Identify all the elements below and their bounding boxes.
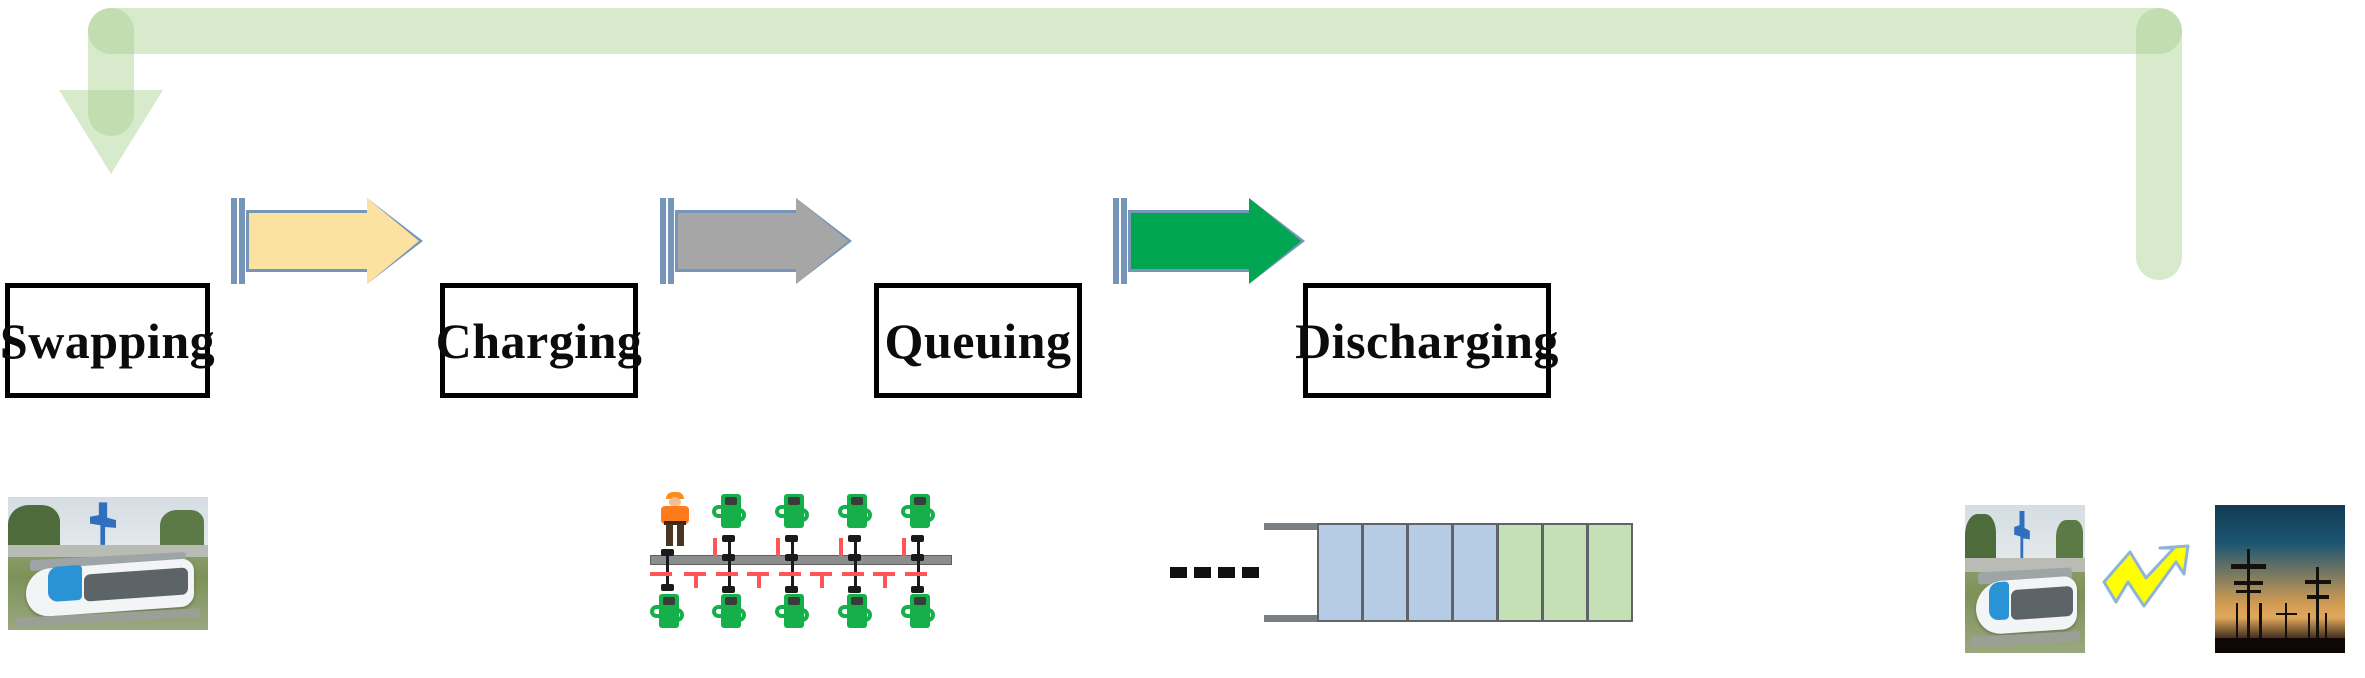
arrow-tail-stripe xyxy=(239,198,245,284)
pylon-mast xyxy=(2316,567,2319,641)
stage-label-discharging: Discharging xyxy=(1295,316,1559,366)
pylon-arm xyxy=(2307,595,2329,599)
charger-screen xyxy=(725,597,737,605)
ev-charger-icon xyxy=(775,594,809,630)
pylon-leg xyxy=(2308,613,2310,641)
charger-handle xyxy=(863,508,872,522)
switch-node xyxy=(785,586,798,593)
switch-node xyxy=(722,586,735,593)
arrow-shaft xyxy=(1128,210,1253,272)
charger-handle xyxy=(800,608,809,622)
stage-box-queuing[interactable]: Queuing xyxy=(874,283,1082,398)
switch-node xyxy=(911,586,924,593)
arrow-head-icon xyxy=(367,198,419,284)
control-wire xyxy=(716,572,738,576)
charger-screen xyxy=(788,497,800,505)
stage-label-swapping: Swapping xyxy=(0,316,215,366)
queue-rail-bottom xyxy=(1264,615,1319,622)
switch-node xyxy=(785,554,798,561)
pylon-arm xyxy=(2276,613,2297,615)
arrow-tail-stripe xyxy=(1113,198,1119,284)
feeder-line xyxy=(728,536,731,592)
power-busbar xyxy=(650,555,952,565)
queue-slot xyxy=(1497,523,1543,622)
queue-slot xyxy=(1452,523,1498,622)
feeder-line xyxy=(791,536,794,592)
charger-handle xyxy=(926,508,935,522)
switch-node xyxy=(848,535,861,542)
charger-handle xyxy=(675,608,684,622)
ev-charger-icon xyxy=(775,494,809,530)
arrow-shaft xyxy=(246,210,371,272)
control-wire xyxy=(650,572,672,576)
bus-blue-panel xyxy=(48,565,82,602)
control-wire xyxy=(694,572,698,588)
ev-charger-icon xyxy=(901,594,935,630)
ellipsis-dash xyxy=(1194,567,1211,578)
maintenance-worker-icon xyxy=(658,492,692,546)
discharge-to-grid xyxy=(1965,492,2365,642)
switch-node xyxy=(785,535,798,542)
stage-label-charging: Charging xyxy=(436,316,643,366)
stage-box-discharging[interactable]: Discharging xyxy=(1303,283,1551,398)
discharging-bus-photo xyxy=(1965,505,2085,653)
arrow-swapping-to-charging xyxy=(231,198,421,284)
process-flow-diagram: Swapping Charging Queuing Discharging xyxy=(0,0,2365,678)
charger-handle xyxy=(863,608,872,622)
pylon-brace xyxy=(2236,590,2261,594)
loop-arrowhead-icon xyxy=(59,90,163,174)
ev-charger-icon xyxy=(712,594,746,630)
bus-blue-panel xyxy=(1989,581,2009,621)
control-wire xyxy=(839,538,843,556)
charger-screen xyxy=(914,497,926,505)
feeder-line xyxy=(917,536,920,592)
photo-horizon xyxy=(2215,638,2345,653)
control-wire xyxy=(757,572,761,588)
pylon xyxy=(2231,549,2267,641)
ev-charger-icon xyxy=(712,494,746,530)
pylon xyxy=(2303,567,2332,641)
worker-leg xyxy=(666,524,673,546)
feeder-line xyxy=(854,536,857,592)
ev-charger-icon xyxy=(650,594,684,630)
control-wire xyxy=(820,572,824,588)
photo-track xyxy=(1970,631,2080,647)
arrow-tail-stripe xyxy=(231,198,237,284)
switch-node xyxy=(661,549,674,556)
stage-label-queuing: Queuing xyxy=(885,316,1072,366)
pylon-arm xyxy=(2305,580,2331,584)
arrow-queuing-to-discharging xyxy=(1113,198,1303,284)
charger-screen xyxy=(663,597,675,605)
loop-top-bar xyxy=(88,8,2182,54)
ev-charger-icon xyxy=(838,494,872,530)
queue-rail-top xyxy=(1264,523,1319,530)
control-wire xyxy=(905,572,927,576)
swap-station-photo xyxy=(8,497,208,630)
arrow-tail-stripe xyxy=(668,198,674,284)
queue-diagram xyxy=(1160,505,1610,635)
charger-handle xyxy=(926,608,935,622)
charger-screen xyxy=(914,597,926,605)
pylon-arm xyxy=(2234,581,2263,586)
arrow-charging-to-queuing xyxy=(660,198,850,284)
charging-station-grid xyxy=(650,488,990,638)
worker-leg xyxy=(677,524,684,546)
switch-node xyxy=(911,554,924,561)
queue-slot xyxy=(1317,523,1363,622)
arrow-head-icon xyxy=(1249,198,1301,284)
control-wire xyxy=(883,572,887,588)
control-wire xyxy=(779,572,801,576)
arrow-tail-stripe xyxy=(1121,198,1127,284)
pylon-arm xyxy=(2231,564,2266,569)
switch-node xyxy=(722,554,735,561)
switch-node xyxy=(911,535,924,542)
charger-handle xyxy=(800,508,809,522)
queue-slot xyxy=(1587,523,1633,622)
arrow-tail-stripe xyxy=(660,198,666,284)
charger-handle xyxy=(737,608,746,622)
charger-screen xyxy=(788,597,800,605)
loop-right-arm xyxy=(2136,8,2182,280)
control-wire xyxy=(776,538,780,556)
ellipsis-dash xyxy=(1242,567,1259,578)
control-wire xyxy=(842,572,864,576)
stage-box-swapping[interactable]: Swapping xyxy=(5,283,210,398)
ev-charger-icon xyxy=(838,594,872,630)
queue-slot xyxy=(1542,523,1588,622)
switch-node xyxy=(661,584,674,591)
pylon-mast xyxy=(2285,603,2287,641)
arrow-shaft xyxy=(675,210,800,272)
pylon-leg xyxy=(2325,613,2327,641)
control-wire xyxy=(713,538,717,556)
charger-screen xyxy=(851,597,863,605)
lightning-bolt-arrow-icon xyxy=(2100,540,2205,625)
control-wire xyxy=(902,538,906,556)
transmission-towers-photo xyxy=(2215,505,2345,653)
switch-node xyxy=(848,586,861,593)
charger-screen xyxy=(851,497,863,505)
switch-node xyxy=(848,554,861,561)
ellipsis-dash xyxy=(1170,567,1187,578)
charger-screen xyxy=(725,497,737,505)
stage-box-charging[interactable]: Charging xyxy=(440,283,638,398)
pylon-leg xyxy=(2236,603,2239,642)
charger-handle xyxy=(737,508,746,522)
queue-slot xyxy=(1407,523,1453,622)
switch-node xyxy=(722,535,735,542)
queue-slot xyxy=(1362,523,1408,622)
pylon-distant xyxy=(2275,603,2298,641)
pylon-leg xyxy=(2259,603,2262,642)
ellipsis-dash xyxy=(1218,567,1235,578)
arrow-head-icon xyxy=(796,198,848,284)
bus-windows xyxy=(2011,586,2073,620)
ev-charger-icon xyxy=(901,494,935,530)
